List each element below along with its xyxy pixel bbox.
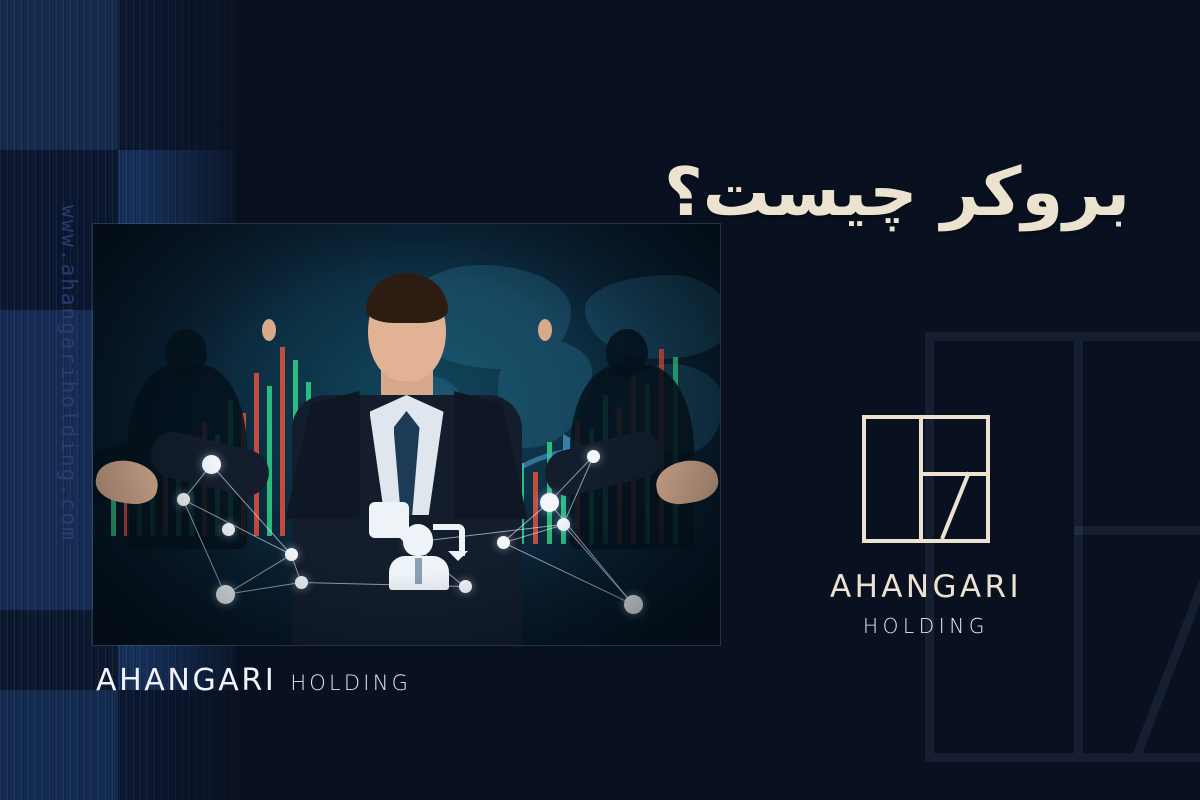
photo-vignette (93, 224, 720, 645)
brand-subtitle: HOLDING (815, 614, 1037, 638)
footer-wordmark: AHANGARI (96, 663, 276, 698)
page-title: بروکر چیست؟ (664, 151, 1130, 235)
banner-root: www.ahangariholding.com بروکر چیست؟ (0, 0, 1200, 800)
website-url-vertical[interactable]: www.ahangariholding.com (52, 205, 86, 705)
footer-subtitle: HOLDING (290, 671, 411, 695)
watermark-horizontal-rule (1074, 526, 1200, 535)
hero-photo (93, 224, 720, 645)
footer-brand-lockup: AHANGARI HOLDING (96, 663, 411, 698)
brand-logo-lockup: AHANGARI HOLDING (815, 415, 1037, 638)
ahangari-square-monogram-icon (862, 415, 990, 543)
monogram-diagonal-group (866, 419, 986, 539)
watermark-vertical-rule (1074, 341, 1083, 753)
brand-wordmark: AHANGARI (815, 569, 1037, 605)
